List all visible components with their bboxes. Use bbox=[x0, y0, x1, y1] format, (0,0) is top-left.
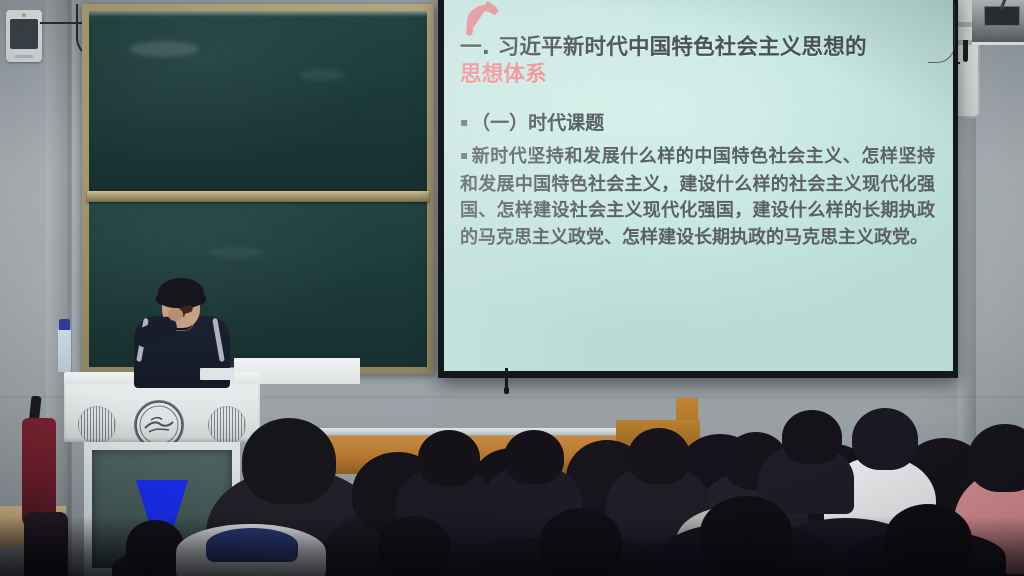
speaker-grille-icon bbox=[208, 406, 246, 444]
chalk-smudge bbox=[299, 69, 345, 81]
student-head bbox=[884, 504, 972, 576]
bottle-cap bbox=[59, 319, 70, 330]
student-head bbox=[628, 428, 690, 484]
chalkboard-panel-upper bbox=[89, 11, 427, 193]
slide-subheading: （一）时代课题 bbox=[471, 112, 604, 134]
bullet-glyph: ▪ bbox=[460, 142, 468, 169]
chalk-smudge bbox=[129, 41, 199, 57]
student-head bbox=[504, 430, 564, 484]
student-head bbox=[418, 430, 480, 486]
indicator-dot bbox=[22, 13, 26, 17]
lecturer bbox=[128, 278, 236, 388]
chalk-smudge bbox=[209, 247, 265, 258]
lecturer-hair bbox=[158, 278, 204, 308]
slide-paragraph: 新时代坚持和发展什么样的中国特色社会主义、怎样坚持和发展中国特色社会主义，建设什… bbox=[460, 146, 935, 248]
lecturer-hand bbox=[168, 308, 183, 321]
student-head bbox=[540, 508, 622, 576]
speaker-grille-icon bbox=[78, 406, 116, 444]
student-head bbox=[852, 408, 918, 470]
student-head bbox=[700, 496, 792, 570]
student-collar-blue bbox=[206, 528, 298, 562]
chalk-residue-strip bbox=[89, 11, 427, 17]
student-head bbox=[782, 410, 842, 464]
water-bottle[interactable] bbox=[58, 328, 71, 372]
bullet-glyph: ▪ bbox=[460, 109, 468, 135]
lectern-front-panel bbox=[64, 384, 260, 442]
slide-title-line-1: 一. 习近平新时代中国特色社会主义思想的 bbox=[460, 35, 867, 60]
projector-drop-pole bbox=[963, 40, 968, 62]
bag-lower-shadow bbox=[24, 512, 68, 576]
panel-button[interactable] bbox=[15, 55, 33, 58]
wall-control-panel[interactable] bbox=[6, 10, 42, 62]
slide-paragraph-row: ▪新时代坚持和发展什么样的中国特色社会主义、怎样坚持和发展中国特色社会主义，建设… bbox=[460, 144, 935, 251]
projection-screen[interactable]: 一. 习近平新时代中国特色社会主义思想的 思想体系 ▪（一）时代课题 ▪新时代坚… bbox=[438, 0, 958, 378]
chalk-tray-rail bbox=[87, 191, 429, 202]
slide-title: 一. 习近平新时代中国特色社会主义思想的 思想体系 bbox=[460, 34, 935, 88]
slide-subheading-row: ▪（一）时代课题 bbox=[460, 110, 935, 138]
slide-surface: 一. 习近平新时代中国特色社会主义思想的 思想体系 ▪（一）时代课题 ▪新时代坚… bbox=[444, 0, 953, 371]
slide-title-line-2: 思想体系 bbox=[460, 61, 935, 88]
lectern-papers bbox=[200, 368, 234, 380]
screen-side-wire bbox=[928, 4, 955, 63]
panel-display bbox=[10, 19, 38, 49]
student-head bbox=[378, 516, 450, 576]
classroom-scene: 一. 习近平新时代中国特色社会主义思想的 思想体系 ▪（一）时代课题 ▪新时代坚… bbox=[0, 0, 1024, 576]
slide-body: ▪（一）时代课题 ▪新时代坚持和发展什么样的中国特色社会主义、怎样坚持和发展中国… bbox=[460, 110, 935, 251]
student-head bbox=[242, 418, 336, 504]
screen-pull-cord[interactable] bbox=[505, 368, 508, 390]
